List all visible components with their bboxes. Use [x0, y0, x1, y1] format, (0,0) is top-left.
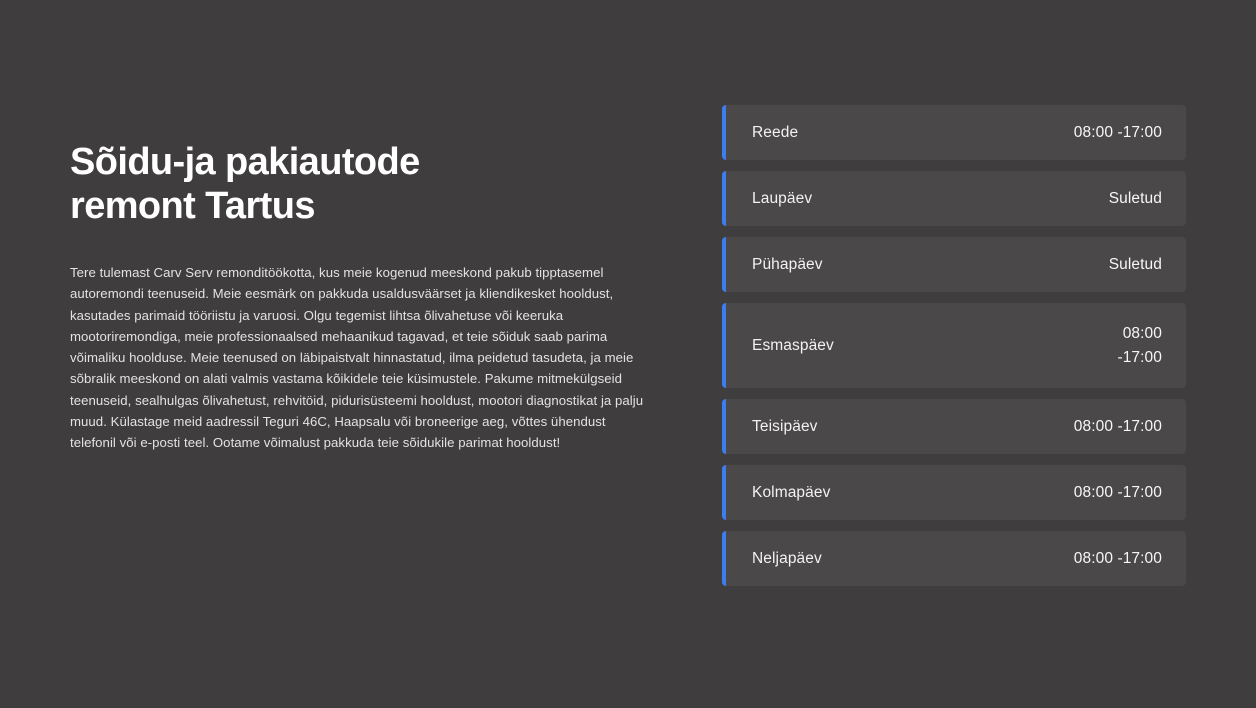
- day-label: Neljapäev: [752, 547, 822, 571]
- intro-paragraph: Tere tulemast Carv Serv remonditöökotta,…: [70, 262, 645, 454]
- schedule-row[interactable]: Neljapäev 08:00 -17:00: [722, 531, 1186, 586]
- day-label: Reede: [752, 121, 798, 145]
- day-label: Teisipäev: [752, 415, 818, 439]
- day-label: Esmaspäev: [752, 334, 834, 358]
- hours-value: 08:00 -17:00: [1058, 481, 1162, 505]
- page-title: Sõidu-ja pakiautode remont Tartus: [70, 140, 510, 228]
- hours-value: Suletud: [1093, 253, 1162, 277]
- page-root: Sõidu-ja pakiautode remont Tartus Tere t…: [0, 0, 1256, 708]
- hours-value: 08:00 -17:00: [1058, 415, 1162, 439]
- schedule-row[interactable]: Pühapäev Suletud: [722, 237, 1186, 292]
- schedule-row[interactable]: Reede 08:00 -17:00: [722, 105, 1186, 160]
- hours-value: 08:00 -17:00: [1058, 547, 1162, 571]
- day-label: Pühapäev: [752, 253, 823, 277]
- hours-value: 08:00 -17:00: [1058, 121, 1162, 145]
- opening-hours-list: Reede 08:00 -17:00 Laupäev Suletud Pühap…: [722, 105, 1186, 586]
- hero-text-column: Sõidu-ja pakiautode remont Tartus Tere t…: [70, 140, 650, 454]
- schedule-row[interactable]: Teisipäev 08:00 -17:00: [722, 399, 1186, 454]
- schedule-row[interactable]: Kolmapäev 08:00 -17:00: [722, 465, 1186, 520]
- hours-value: 08:00 -17:00: [1101, 322, 1162, 370]
- schedule-row[interactable]: Esmaspäev 08:00 -17:00: [722, 303, 1186, 388]
- day-label: Laupäev: [752, 187, 812, 211]
- hours-value: Suletud: [1093, 187, 1162, 211]
- schedule-row[interactable]: Laupäev Suletud: [722, 171, 1186, 226]
- day-label: Kolmapäev: [752, 481, 830, 505]
